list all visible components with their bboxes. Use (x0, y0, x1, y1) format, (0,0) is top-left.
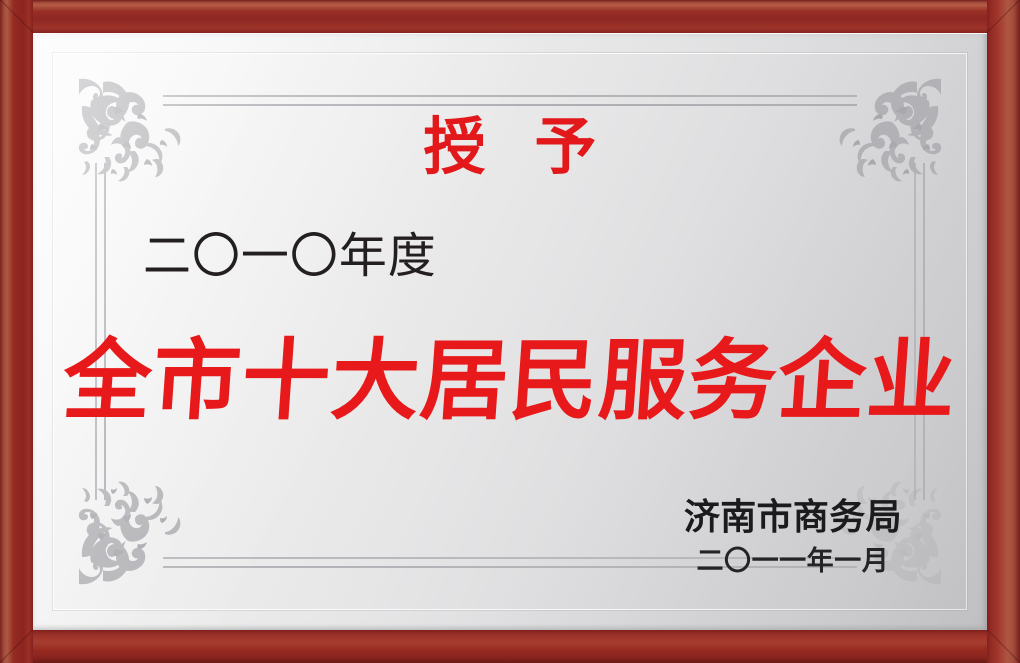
signature-organization: 济南市商务局 (684, 498, 902, 538)
award-verb: 授 予 (0, 116, 1020, 178)
signature-block: 济南市商务局 二〇一一年一月 (684, 498, 902, 577)
award-title: 全市十大居民服务企业 (0, 333, 1020, 428)
plaque-text-content: 授 予 二〇一〇年度 全市十大居民服务企业 济南市商务局 二〇一一年一月 (0, 0, 1020, 663)
award-plaque: 授 予 二〇一〇年度 全市十大居民服务企业 济南市商务局 二〇一一年一月 (0, 0, 1020, 663)
award-year: 二〇一〇年度 (143, 232, 437, 280)
signature-date: 二〇一一年一月 (684, 547, 902, 577)
